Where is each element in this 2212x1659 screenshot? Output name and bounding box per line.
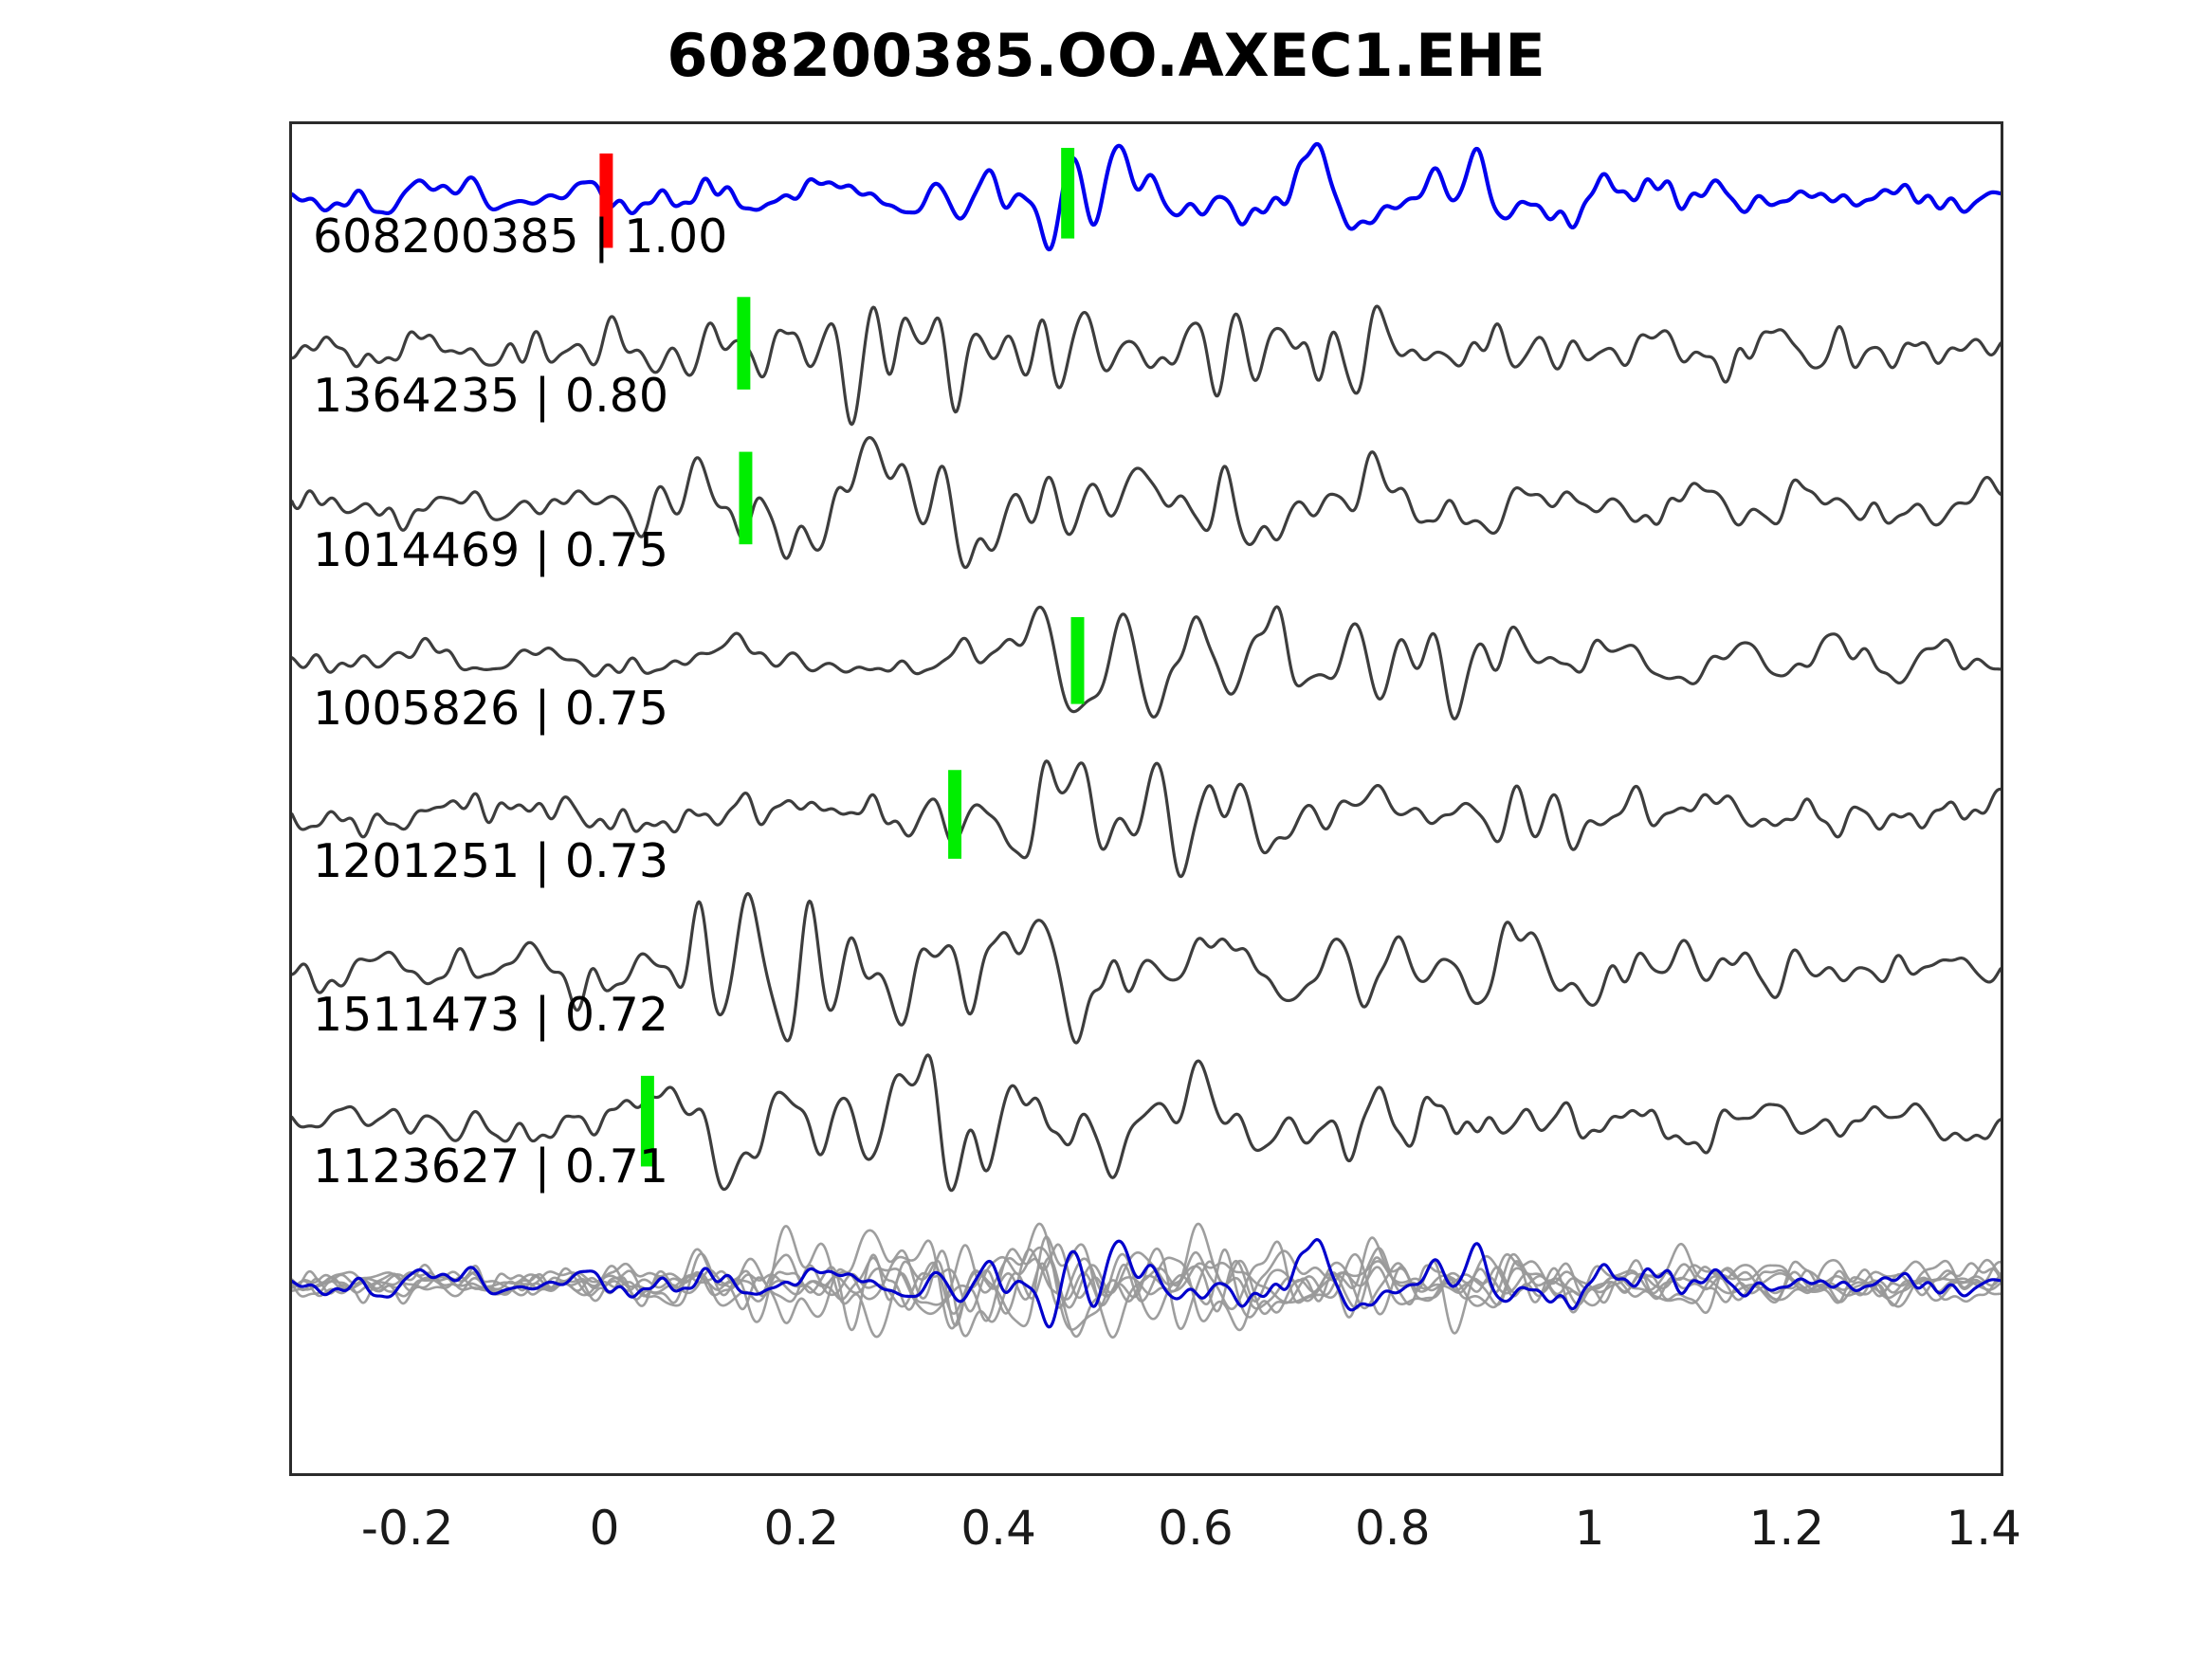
x-axis: -0.200.20.40.60.811.21.4 <box>289 1476 2003 1618</box>
trace-label-5: 1201251 | 0.73 <box>313 838 668 884</box>
pick-marker-green-1014469[interactable] <box>739 452 752 545</box>
x-tick-label: -0.2 <box>361 1501 454 1556</box>
pick-marker-green-608200385[interactable] <box>1061 148 1074 239</box>
page-title: 608200385.OO.AXEC1.EHE <box>0 21 2212 90</box>
x-tick-label: 0.6 <box>1158 1501 1234 1556</box>
trace-label-3: 1014469 | 0.75 <box>313 527 668 574</box>
x-tick-label: 0.2 <box>764 1501 840 1556</box>
trace-label-4: 1005826 | 0.75 <box>313 685 668 732</box>
trace-label-7: 1123627 | 0.71 <box>313 1143 668 1190</box>
pick-marker-green-1201251[interactable] <box>948 770 961 859</box>
x-tick-label: 1 <box>1575 1501 1605 1556</box>
waveform-canvas <box>292 124 2001 1473</box>
x-tick-label: 0.4 <box>960 1501 1036 1556</box>
x-tick-label: 1.2 <box>1749 1501 1825 1556</box>
x-tick-label: 0.8 <box>1355 1501 1431 1556</box>
waveform-figure: 608200385.OO.AXEC1.EHE 608200385 | 1.00 … <box>0 0 2212 1659</box>
x-tick-label: 1.4 <box>1946 1501 2021 1556</box>
x-tick-label: 0 <box>590 1501 620 1556</box>
plot-area <box>289 121 2003 1476</box>
trace-label-1: 608200385 | 1.00 <box>313 213 727 260</box>
pick-marker-green-1364235[interactable] <box>737 297 750 390</box>
pick-marker-green-1005826[interactable] <box>1071 617 1085 704</box>
trace-label-6: 1511473 | 0.72 <box>313 992 668 1038</box>
trace-label-2: 1364235 | 0.80 <box>313 373 668 419</box>
